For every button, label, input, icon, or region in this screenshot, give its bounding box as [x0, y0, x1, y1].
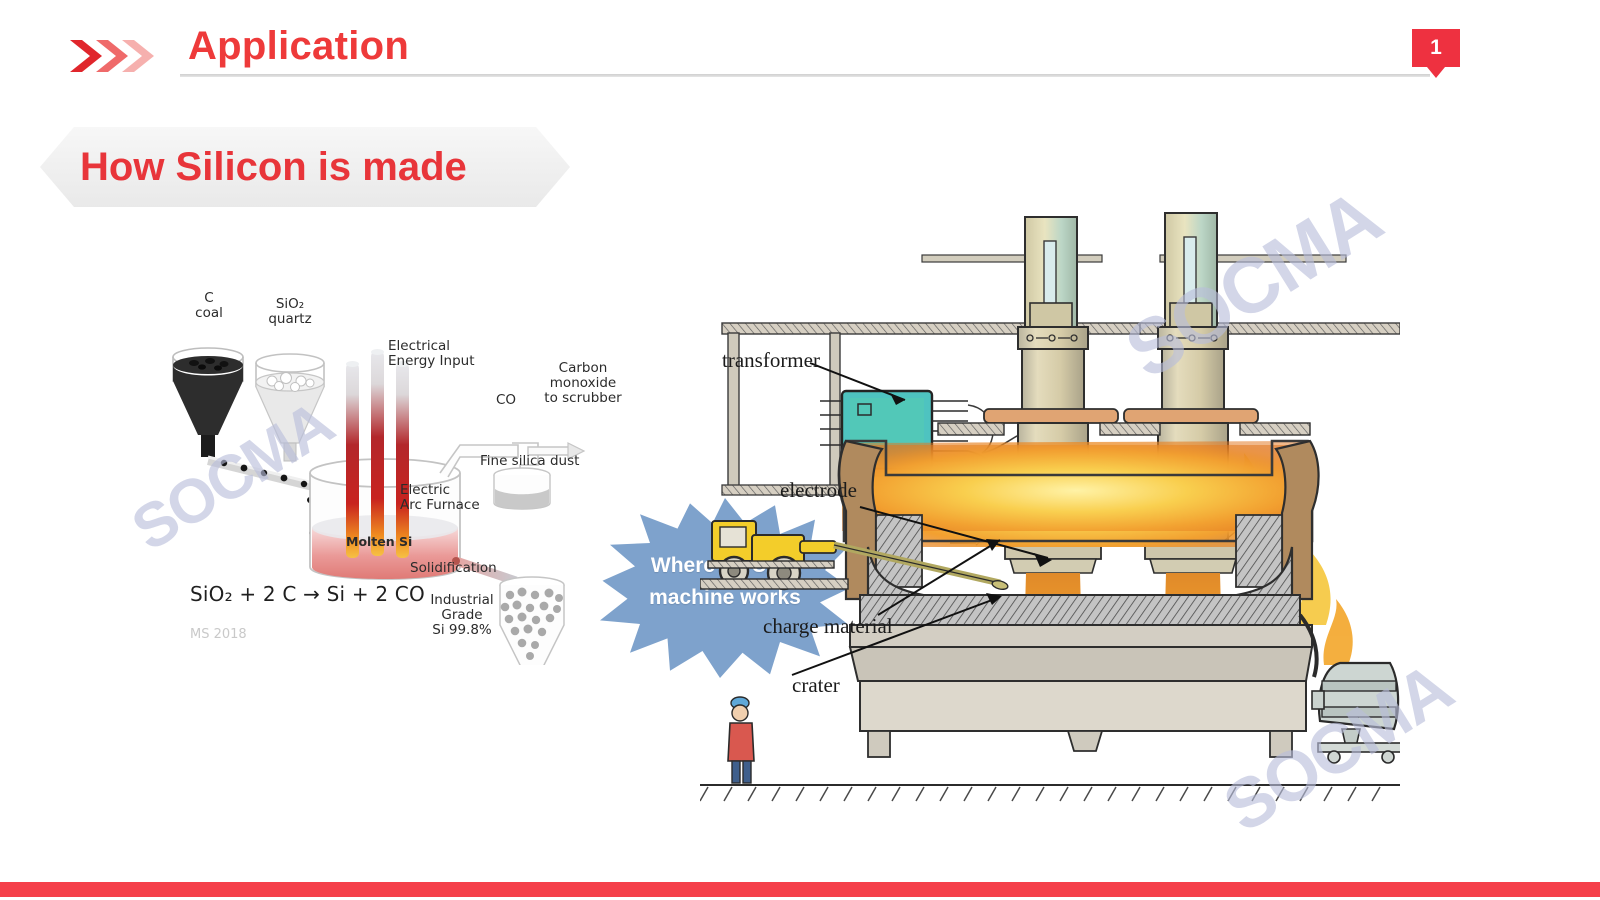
label-electrical-energy-input: Electrical Energy Input [388, 339, 475, 369]
section-banner-label: How Silicon is made [80, 140, 467, 194]
label-electric-arc-furnace: Electric Arc Furnace [400, 483, 480, 513]
label-electrode: electrode [780, 478, 857, 503]
label-charge-material: charge material [763, 614, 893, 639]
title-underline [180, 74, 1430, 77]
label-molten-si: Molten Si [346, 534, 412, 549]
diagram-credit: MS 2018 [190, 627, 247, 642]
label-quartz: SiO₂ quartz [256, 297, 324, 327]
label-transformer: transformer [722, 348, 820, 373]
chemical-equation: SiO₂ + 2 C → Si + 2 CO [190, 582, 425, 606]
page-number-badge: 1 [1412, 29, 1460, 67]
label-co: CO [496, 393, 516, 408]
triple-chevron-right-icon [68, 36, 158, 76]
slide-header: Application 1 [0, 0, 1600, 100]
label-industrial-grade-si: Industrial Grade Si 99.8% [422, 593, 502, 638]
label-coal: C coal [184, 291, 234, 321]
label-solidification: Solidification [410, 561, 497, 576]
silicon-process-diagram: C coal SiO₂ quartz Electrical Energy Inp… [160, 295, 600, 665]
label-crater: crater [792, 673, 840, 698]
page-number-label: 1 [1430, 36, 1442, 60]
footer-accent-bar [0, 882, 1600, 897]
page-title: Application [188, 26, 409, 66]
label-carbon-monoxide-to-scrubber: Carbon monoxide to scrubber [528, 361, 638, 406]
label-fine-silica-dust: Fine silica dust [480, 454, 579, 469]
